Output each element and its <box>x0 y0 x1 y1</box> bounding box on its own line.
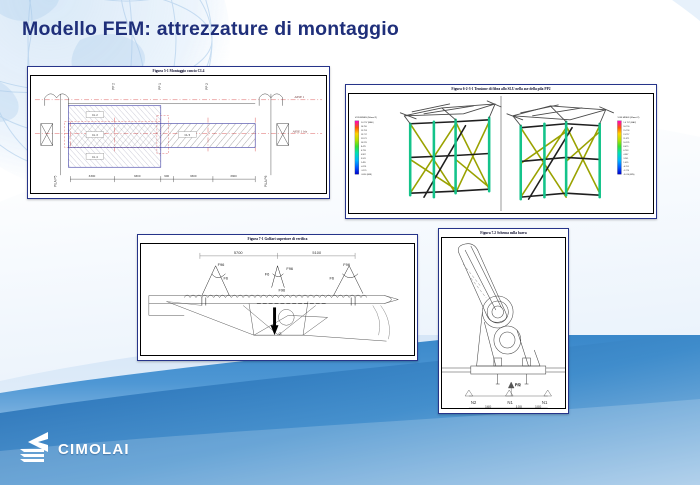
svg-text:F96: F96 <box>343 262 351 267</box>
svg-text:1.6 757 (MAX): 1.6 757 (MAX) <box>623 121 636 124</box>
figure-caption: Figura 5-1 Montaggio concio CL4 <box>30 68 327 75</box>
figure-caption: Figura 7-1 Golfari superiore di verifica <box>140 236 415 243</box>
svg-text:900: 900 <box>164 174 169 178</box>
svg-text:11.971: 11.971 <box>623 138 629 140</box>
svg-text:PP 2: PP 2 <box>112 83 116 90</box>
svg-text:-1.270: -1.270 <box>361 170 367 172</box>
svg-text:3.241: 3.241 <box>361 158 366 160</box>
slide-canvas: Modello FEM: attrezzature di montaggio F… <box>0 0 700 485</box>
svg-text:F6: F6 <box>223 276 228 281</box>
svg-text:F96: F96 <box>278 288 286 293</box>
svg-text:ASSE 1 bis: ASSE 1 bis <box>292 130 308 134</box>
svg-text:3300: 3300 <box>230 174 237 178</box>
svg-text:13.717: 13.717 <box>361 134 367 136</box>
svg-text:CL 5: CL 5 <box>185 133 191 137</box>
svg-text:CL 3: CL 3 <box>92 133 98 137</box>
svg-text:CL 4: CL 4 <box>92 155 98 159</box>
figure-caption: Figura 7.2 Schema sulla barra <box>441 230 566 237</box>
svg-text:-3.016 (MIN): -3.016 (MIN) <box>623 174 634 176</box>
figure-drawing-fem-stress: VON MISES (N/mm^2) 1.6 757 (MAX) 16.7901… <box>348 93 654 214</box>
svg-text:PILA P5: PILA P5 <box>54 175 58 187</box>
svg-text:-3.016 (MIN): -3.016 (MIN) <box>361 174 372 176</box>
svg-text:10.225: 10.225 <box>361 142 368 144</box>
cimolai-logo: CIMOLAI <box>18 431 130 467</box>
svg-text:N1: N1 <box>507 400 513 405</box>
svg-text:CL 2: CL 2 <box>92 113 98 117</box>
cimolai-wordmark: CIMOLAI <box>58 441 130 458</box>
figure-golfari-verifica[interactable]: Figura 7-1 Golfari superiore di verifica… <box>137 234 418 361</box>
svg-text:-1.270: -1.270 <box>623 170 629 172</box>
svg-text:4.987: 4.987 <box>623 154 628 156</box>
svg-text:-0.251: -0.251 <box>623 166 629 168</box>
slide-title: Modello FEM: attrezzature di montaggio <box>22 18 399 41</box>
figure-tensione-fem-pila[interactable]: Figura 6-2-3-1 Tensione di fibra allo SL… <box>345 84 657 219</box>
svg-text:3300: 3300 <box>134 174 141 178</box>
svg-text:F6: F6 <box>330 276 335 281</box>
svg-text:G: G <box>278 331 281 336</box>
svg-text:16.790: 16.790 <box>623 126 630 128</box>
svg-text:F96: F96 <box>218 262 226 267</box>
svg-text:N2: N2 <box>471 400 477 405</box>
figure-montaggio-concio[interactable]: Figura 5-1 Montaggio concio CL4 <box>27 66 330 199</box>
svg-text:13.717: 13.717 <box>623 134 629 136</box>
svg-text:PILA P6: PILA P6 <box>264 175 268 187</box>
figure-caption: Figura 6-2-3-1 Tensione di fibra allo SL… <box>348 86 654 93</box>
svg-text:8.479: 8.479 <box>623 146 628 148</box>
svg-text:15.793: 15.793 <box>623 130 630 132</box>
svg-text:4.987: 4.987 <box>361 154 366 156</box>
svg-text:5700: 5700 <box>234 250 244 255</box>
svg-text:PP 1: PP 1 <box>158 83 162 90</box>
svg-text:5100: 5100 <box>312 250 322 255</box>
svg-text:-0.251: -0.251 <box>361 166 367 168</box>
svg-text:160: 160 <box>485 404 492 408</box>
cimolai-chevron-icon <box>18 431 52 467</box>
svg-text:11.971: 11.971 <box>361 138 367 140</box>
svg-text:ASSE 1: ASSE 1 <box>294 95 305 99</box>
svg-text:10.225: 10.225 <box>623 142 630 144</box>
svg-text:3.241: 3.241 <box>623 158 628 160</box>
svg-text:100: 100 <box>535 404 542 408</box>
svg-text:N1: N1 <box>542 400 548 405</box>
svg-text:3300: 3300 <box>89 174 96 178</box>
svg-text:16.790: 16.790 <box>361 126 368 128</box>
svg-text:VON MISES (N/mm^2): VON MISES (N/mm^2) <box>617 116 639 119</box>
figure-drawing-rigging: 57005100 F96F6 F96F6F96 F96F6 <box>140 243 415 356</box>
svg-text:1.6 757 (MAX): 1.6 757 (MAX) <box>361 121 374 124</box>
svg-text:15.793: 15.793 <box>361 130 368 132</box>
svg-text:P/2: P/2 <box>515 382 521 387</box>
svg-text:F6: F6 <box>265 272 270 277</box>
svg-text:VON MISES (N/mm^2): VON MISES (N/mm^2) <box>355 116 377 119</box>
svg-text:3300: 3300 <box>190 174 197 178</box>
figure-drawing-lug-detail: P/2 N2N1N1 160100100 <box>441 237 566 409</box>
svg-text:8.479: 8.479 <box>361 146 366 148</box>
svg-text:100: 100 <box>516 404 523 408</box>
figure-drawing-cad-elevation: 33003300 90033003300 PP 2 PP 1 PP 2 PILA… <box>30 75 327 194</box>
svg-text:F96: F96 <box>286 266 294 271</box>
svg-text:PP 2: PP 2 <box>205 83 209 90</box>
figure-schema-barra[interactable]: Figura 7.2 Schema sulla barra <box>438 228 569 414</box>
